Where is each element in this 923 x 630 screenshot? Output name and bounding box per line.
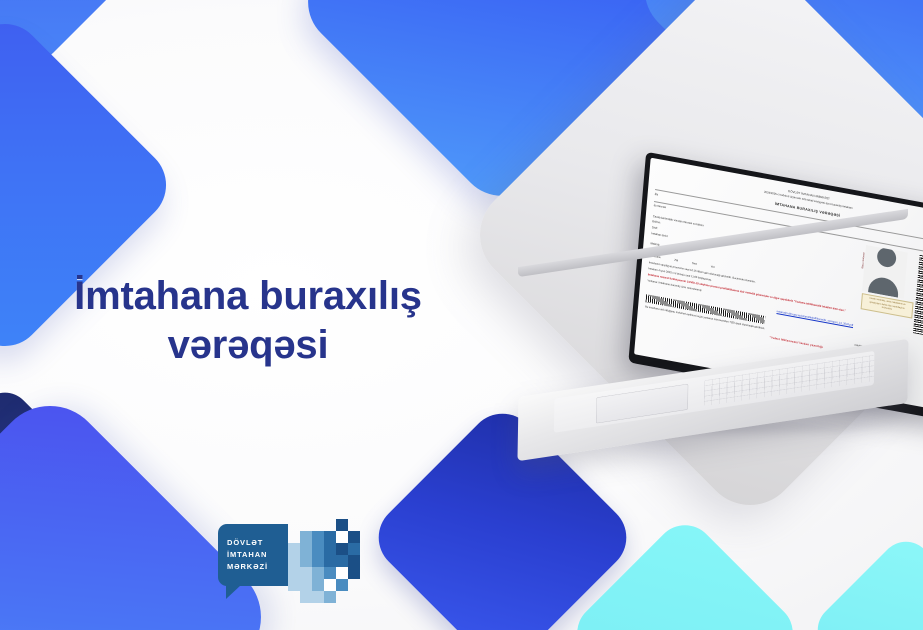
logo-pixel bbox=[288, 579, 300, 591]
logo-pixel bbox=[336, 543, 348, 555]
logo-pixel bbox=[300, 531, 312, 543]
logo-pixel bbox=[336, 567, 348, 579]
logo-pixel bbox=[300, 579, 312, 591]
page-title: İmtahana buraxılış vərəqəsi bbox=[28, 272, 468, 370]
doc-note-box: Cavab nəzarətçi, əsas mütaliəsinə və işt… bbox=[861, 293, 914, 318]
logo-line-1: DÖVLƏT bbox=[227, 538, 288, 548]
logo-pixel bbox=[288, 555, 300, 567]
logo-pixel bbox=[336, 531, 348, 543]
logo-pixel bbox=[300, 567, 312, 579]
logo-pixel bbox=[312, 555, 324, 567]
decorative-diamond-cyan-right bbox=[807, 531, 923, 630]
avatar bbox=[862, 245, 908, 299]
logo-pixel bbox=[348, 543, 360, 555]
logo-pixel bbox=[312, 567, 324, 579]
logo-pixel bbox=[336, 555, 348, 567]
logo-pixel bbox=[324, 579, 336, 591]
logo-pixel bbox=[324, 567, 336, 579]
page-title-line-2: vərəqəsi bbox=[28, 321, 468, 370]
logo-pixel bbox=[312, 543, 324, 555]
logo-pixel bbox=[336, 519, 348, 531]
logo-pixel bbox=[312, 591, 324, 603]
logo-line-3: MƏRKƏZİ bbox=[227, 562, 288, 572]
avatar-inner bbox=[862, 245, 908, 299]
logo-pixel bbox=[324, 555, 336, 567]
logo-pixel bbox=[312, 579, 324, 591]
logo-pixel bbox=[300, 555, 312, 567]
logo-pixel bbox=[348, 531, 360, 543]
logo-pixel bbox=[324, 591, 336, 603]
doc-column-header: Zal bbox=[674, 259, 678, 264]
logo-pixel bbox=[288, 543, 300, 555]
logo-pixel bbox=[336, 579, 348, 591]
logo-pixel bbox=[312, 531, 324, 543]
dim-logo: DÖVLƏT İMTAHAN MƏRKƏZİ bbox=[218, 518, 388, 592]
poster-canvas: İmtahana buraxılış vərəqəsi DÖVLƏT İMTAH… bbox=[0, 0, 923, 630]
doc-column-header: Yer bbox=[711, 265, 715, 270]
laptop-device: DÖVLƏT İMTAHAN MƏRKƏZİ 2024/2025-ci tədr… bbox=[518, 182, 923, 442]
logo-line-2: İMTAHAN bbox=[227, 550, 288, 560]
avatar-head-icon bbox=[876, 246, 896, 269]
laptop-trackpad[interactable] bbox=[596, 384, 688, 424]
logo-pixel-mosaic bbox=[288, 519, 374, 591]
doc-column-header: Sıra bbox=[692, 262, 697, 267]
doc-photo-wrap: Əlavə məlumat Cavab nəzarətçi, əsas müta… bbox=[858, 245, 916, 350]
logo-pixel bbox=[300, 591, 312, 603]
logo-pixel bbox=[324, 531, 336, 543]
logo-pixel bbox=[300, 543, 312, 555]
logo-speech-bubble: DÖVLƏT İMTAHAN MƏRKƏZİ bbox=[218, 524, 288, 586]
logo-pixel bbox=[348, 555, 360, 567]
logo-pixel bbox=[324, 543, 336, 555]
logo-pixel bbox=[288, 567, 300, 579]
logo-pixel bbox=[348, 567, 360, 579]
page-title-line-1: İmtahana buraxılış bbox=[28, 272, 468, 321]
